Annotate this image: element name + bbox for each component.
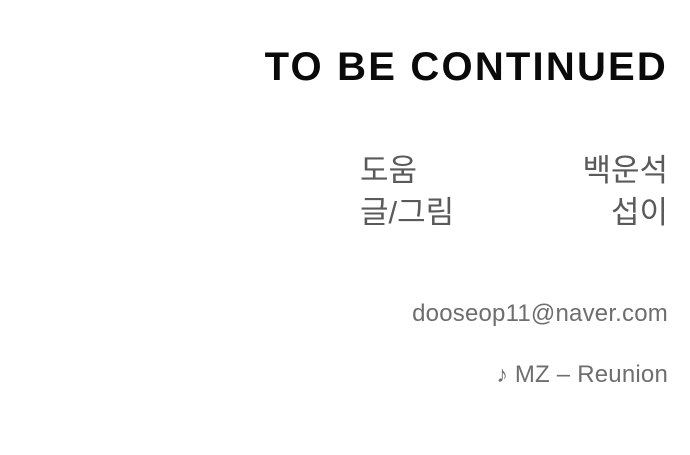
music-credit-container: ♪MZ – Reunion [0,358,668,391]
music-track-title: MZ – Reunion [515,359,668,391]
credit-role-label: 도움 [360,150,520,192]
credit-person-name: 섭이 [520,192,668,234]
credit-role-label: 글/그림 [360,192,520,234]
credit-person-name: 백운석 [520,150,668,192]
contact-email[interactable]: dooseop11@naver.com [412,298,668,330]
credits-list: 도움 백운석 글/그림 섭이 [0,150,668,234]
contact-container: dooseop11@naver.com [0,298,668,330]
credit-row: 도움 백운석 [360,150,668,192]
credit-row: 글/그림 섭이 [360,192,668,234]
music-note-icon: ♪ [496,358,508,390]
page-title: TO BE CONTINUED [265,44,668,90]
to-be-continued-endcard: TO BE CONTINUED 도움 백운석 글/그림 섭이 dooseop11… [0,0,690,455]
title-container: TO BE CONTINUED [0,44,668,90]
